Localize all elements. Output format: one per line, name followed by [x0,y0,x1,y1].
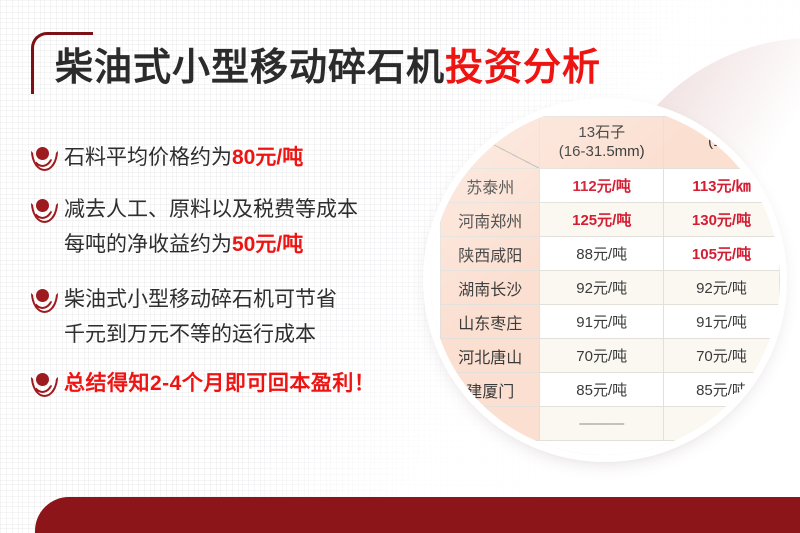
list-item: 减去人工、原料以及税费等成本 每吨的净收益约为50元/吨 [30,192,450,262]
list-item-text: 柴油式小型移动碎石机可节省 [64,288,337,311]
magnifier-content: 13石子 (16-31.5mm) (10- 苏泰州112元/吨113元/㎞河南郑… [430,105,780,455]
table-cell-price: 92元/吨 [664,271,780,305]
table-row: 河南郑州125元/吨130元/吨 [441,203,780,237]
bottom-red-bar [35,497,800,533]
list-item-highlight: 80元/吨 [232,146,303,169]
table-cell-city: 河北唐山 [441,339,540,373]
table-row: 河北唐山70元/吨70元/吨 [441,339,780,373]
table-cell-city: 湖南长沙 [441,271,540,305]
list-item-body: 减去人工、原料以及税费等成本 每吨的净收益约为50元/吨 [64,192,358,262]
table-cell-price [664,407,780,441]
list-item-text: 减去人工、原料以及税费等成本 [64,198,358,221]
table-row: 湖南长沙92元/吨92元/吨 [441,271,780,305]
table-cell-price: 85元/吨 [664,373,780,407]
table-row: 苏泰州112元/吨113元/㎞ [441,169,780,203]
page-title: 柴油式小型移动碎石机投资分析 [55,48,601,90]
table-corner-cell [441,117,540,169]
table-cell-city: 河南郑州 [441,203,540,237]
bullet-dot-icon [30,285,64,315]
list-item-line: 总结得知2-4个月即可回本盈利！ [64,366,375,401]
bullet-dot-icon [30,369,64,399]
table-row: 建厦门85元/吨85元/吨 [441,373,780,407]
magnifier-circle: 13石子 (16-31.5mm) (10- 苏泰州112元/吨113元/㎞河南郑… [430,105,780,455]
table-cell-price: 105元/吨 [664,237,780,271]
list-item-text: 千元到万元不等的运行成本 [64,323,316,346]
table-col-header-1: 13石子 (16-31.5mm) [540,117,664,169]
col-header-spec: (16-31.5mm) [559,143,645,160]
col-header-spec: (10- [708,133,735,150]
table-body: 苏泰州112元/吨113元/㎞河南郑州125元/吨130元/吨陕西咸阳88元/吨… [441,169,780,441]
poster-stage: 柴油式小型移动碎石机投资分析 石料平均价格约为80元/吨 减去人工、原料以及税费… [0,0,800,533]
table-cell-price: 70元/吨 [540,339,664,373]
bullet-list: 石料平均价格约为80元/吨 减去人工、原料以及税费等成本 每吨的净收益约为50元… [30,140,450,418]
table-cell-price: 113元/㎞ [664,169,780,203]
price-table: 13石子 (16-31.5mm) (10- 苏泰州112元/吨113元/㎞河南郑… [440,116,780,441]
col-header-name: 13石子 [578,124,625,141]
list-item: 柴油式小型移动碎石机可节省 千元到万元不等的运行成本 [30,282,450,352]
table-row: 山东枣庄91元/吨91元/吨 [441,305,780,339]
list-item-text: 每吨的净收益约为 [64,233,232,256]
table-cell-price: 91元/吨 [664,305,780,339]
table-cell-city: 陕西咸阳 [441,237,540,271]
table-cell-price: 112元/吨 [540,169,664,203]
table-cell-price: 85元/吨 [540,373,664,407]
table-cell-city: 苏泰州 [441,169,540,203]
table-cell-city: 建厦门 [441,373,540,407]
table-col-header-2: (10- [664,117,780,169]
list-item-line: 每吨的净收益约为50元/吨 [64,227,358,262]
page-title-accent: 投资分析 [445,47,601,89]
table-header-row: 13石子 (16-31.5mm) (10- [441,117,780,169]
table-cell-price: 91元/吨 [540,305,664,339]
page-title-main: 柴油式小型移动碎石机 [55,47,445,89]
list-item-line: 石料平均价格约为80元/吨 [64,140,303,175]
bullet-dot-icon [30,195,64,225]
list-item-line: 柴油式小型移动碎石机可节省 [64,282,337,317]
table-cell-city [441,407,540,441]
list-item-text: 石料平均价格约为 [64,146,232,169]
list-item: 总结得知2-4个月即可回本盈利！ [30,366,450,401]
table-cell-city: 山东枣庄 [441,305,540,339]
bullet-dot-icon [30,143,64,173]
table-cell-price: 130元/吨 [664,203,780,237]
list-item-line: 减去人工、原料以及税费等成本 [64,192,358,227]
table-cell-price: 125元/吨 [540,203,664,237]
list-item-highlight: 50元/吨 [232,233,303,256]
table-cell-price: 92元/吨 [540,271,664,305]
table-cell-price: 88元/吨 [540,237,664,271]
table-row: 陕西咸阳88元/吨105元/吨 [441,237,780,271]
table-cell-price: 70元/吨 [664,339,780,373]
table-cell-price: ——— [540,407,664,441]
list-item-line: 千元到万元不等的运行成本 [64,317,337,352]
list-item-text: 总结得知2-4个月即可回本盈利！ [64,372,375,395]
list-item: 石料平均价格约为80元/吨 [30,140,450,175]
list-item-body: 总结得知2-4个月即可回本盈利！ [64,366,375,401]
list-item-body: 柴油式小型移动碎石机可节省 千元到万元不等的运行成本 [64,282,337,352]
table-row: ——— [441,407,780,441]
list-item-body: 石料平均价格约为80元/吨 [64,140,303,175]
